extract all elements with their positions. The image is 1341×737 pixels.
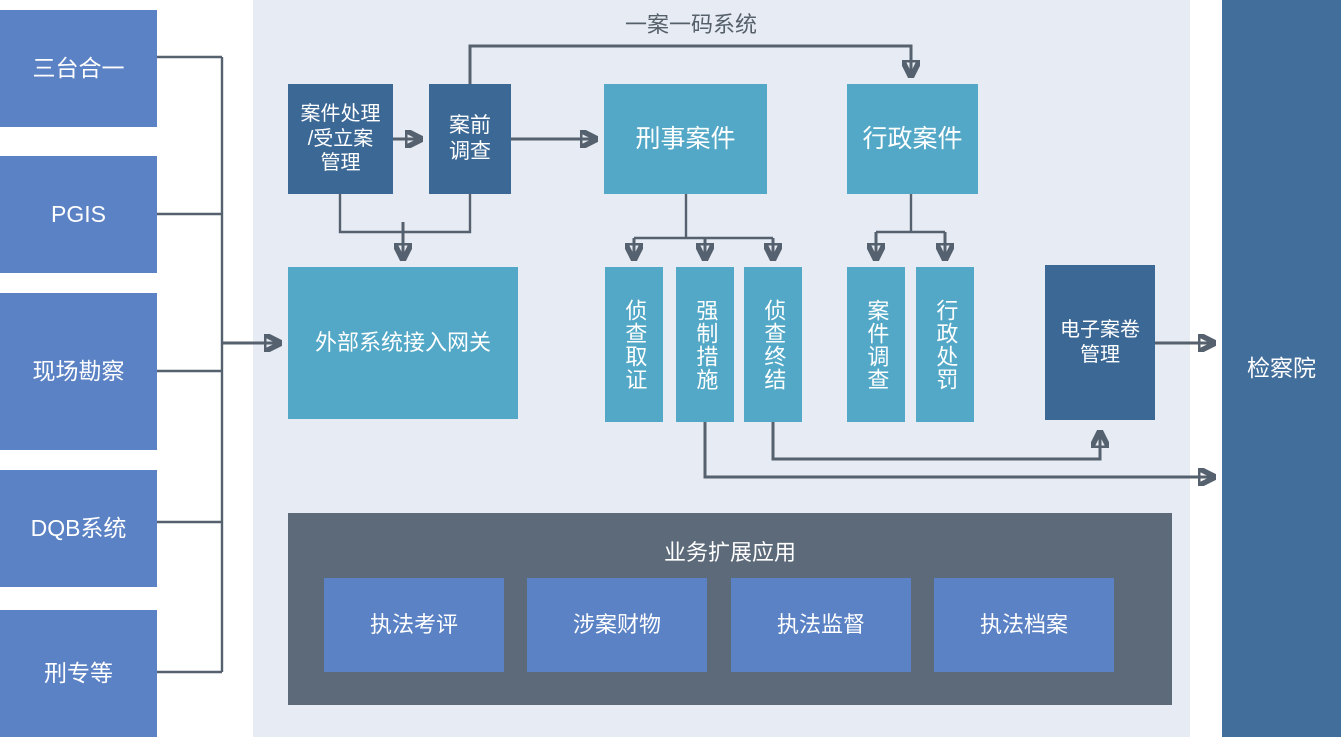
criminal-step-evidence-collection[interactable]: 侦查取证: [605, 267, 663, 422]
administrative-step-penalty[interactable]: 行政处罚: [916, 267, 974, 422]
architecture-diagram: 三台合一 PGIS 现场勘察 DQB系统 刑专等 一案一码系统 案件处理 /受立…: [0, 0, 1341, 737]
pre-investigation-box[interactable]: 案前 调查: [429, 84, 511, 194]
biz-item-law-enforcement-supervision[interactable]: 执法监督: [731, 578, 911, 672]
external-system-pgis[interactable]: PGIS: [0, 156, 157, 273]
external-system-xianchangkancha[interactable]: 现场勘察: [0, 293, 157, 450]
diagram-title: 一案一码系统: [566, 7, 816, 39]
case-intake-box[interactable]: 案件处理 /受立案 管理: [288, 84, 393, 194]
procuratorate-box[interactable]: 检察院: [1222, 0, 1341, 737]
biz-item-case-property[interactable]: 涉案财物: [527, 578, 707, 672]
administrative-case-box[interactable]: 行政案件: [847, 84, 978, 194]
criminal-step-coercive-measures[interactable]: 强制措施: [676, 267, 734, 422]
external-system-santaiheyi[interactable]: 三台合一: [0, 10, 157, 127]
business-extension-title: 业务扩展应用: [288, 535, 1172, 567]
external-system-xingzhuan[interactable]: 刑专等: [0, 610, 157, 737]
biz-item-law-enforcement-archive[interactable]: 执法档案: [934, 578, 1114, 672]
criminal-step-investigation-conclusion[interactable]: 侦查终结: [744, 267, 802, 422]
biz-item-law-enforcement-evaluation[interactable]: 执法考评: [324, 578, 504, 672]
external-system-dqb[interactable]: DQB系统: [0, 470, 157, 587]
administrative-step-case-investigation[interactable]: 案件调查: [847, 267, 905, 422]
external-gateway-box[interactable]: 外部系统接入网关: [288, 267, 518, 419]
ecase-file-management-box[interactable]: 电子案卷 管理: [1045, 265, 1155, 420]
criminal-case-box[interactable]: 刑事案件: [604, 84, 767, 194]
